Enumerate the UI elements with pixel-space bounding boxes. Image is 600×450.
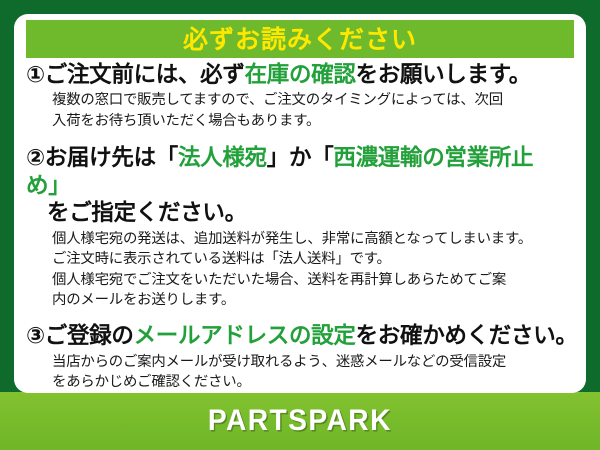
item-2-heading-pre: お届け先は — [45, 145, 156, 171]
item-1-heading-pre: ご注文前には、必ず — [45, 62, 245, 88]
item-1-heading-highlight: 在庫の確認 — [245, 62, 356, 88]
item-3-heading-highlight: メールアドレスの設定 — [134, 323, 356, 349]
item-2-body-line: 個人様宅宛の発送は、追加送料が発生し、非常に高額となってしまいます。 — [52, 229, 576, 249]
brand-wordmark: PARTSPARK — [208, 404, 392, 438]
item-3-heading-post: をお確かめください。 — [356, 323, 578, 349]
notice-item-3-heading: ③ご登録のメールアドレスの設定をお確かめください。 — [26, 323, 576, 350]
brand-footer: PARTSPARK — [0, 392, 600, 450]
item-2-body-line: ご注文時に表示されている送料は「法人送料」です。 — [52, 249, 576, 269]
item-3-body-line: 当店からのご案内メールが受け取れるよう、迷惑メールなどの受信設定 — [52, 352, 576, 372]
notice-item-1-heading: ①ご注文前には、必ず在庫の確認をお願いします。 — [26, 62, 576, 89]
item-1-heading-post: をお願いします。 — [356, 62, 531, 88]
notice-item-2-body: 個人様宅宛の発送は、追加送料が発生し、非常に高額となってしまいます。 ご注文時に… — [26, 229, 576, 311]
item-1-body-line: 入荷をお待ち頂いただく場合もあります。 — [52, 111, 576, 131]
notice-items-list: ①ご注文前には、必ず在庫の確認をお願いします。 複数の窓口で販売してますので、ご… — [14, 62, 586, 393]
notice-title-bar: 必ずお読みください — [26, 20, 574, 58]
page-title: 必ずお読みください — [183, 27, 417, 52]
notice-item-1: ①ご注文前には、必ず在庫の確認をお願いします。 複数の窓口で販売してますので、ご… — [26, 62, 576, 131]
notice-item-2-heading: ②お届け先は「法人様宛」か「西濃運輸の営業所止め」をご指定ください。 — [26, 145, 576, 227]
item-2-marker: ② — [26, 145, 45, 171]
item-1-body-line: 複数の窓口で販売してますので、ご注文のタイミングによっては、次回 — [52, 90, 576, 110]
item-3-body-line: をあらかじめご確認ください。 — [52, 372, 576, 392]
item-2-quote-open-1: 「 — [156, 145, 178, 171]
item-3-marker: ③ — [26, 323, 45, 349]
item-2-heading-highlight-1: 法人様宛 — [178, 145, 267, 171]
notice-card: PARTSPARK 必ずお読みください ①ご注文前には、必ず在庫の確認をお願いし… — [0, 0, 600, 450]
item-3-heading-pre: ご登録の — [45, 323, 134, 349]
notice-panel: 必ずお読みください ①ご注文前には、必ず在庫の確認をお願いします。 複数の窓口で… — [14, 14, 586, 393]
notice-item-2: ②お届け先は「法人様宛」か「西濃運輸の営業所止め」をご指定ください。 個人様宅宛… — [26, 145, 576, 310]
notice-item-1-body: 複数の窓口で販売してますので、ご注文のタイミングによっては、次回 入荷をお待ち頂… — [26, 90, 576, 131]
item-2-quote-close-1: 」 — [267, 145, 289, 171]
notice-item-3-body: 当店からのご案内メールが受け取れるよう、迷惑メールなどの受信設定 をあらかじめご… — [26, 352, 576, 393]
item-2-quote-close-2: 」 — [48, 173, 70, 199]
item-1-marker: ① — [26, 62, 45, 88]
item-2-heading-second-line: をご指定ください。 — [26, 200, 576, 227]
item-2-body-line: 個人様宅宛でご注文をいただいた場合、送料を再計算しあらためてご案 — [52, 270, 576, 290]
notice-item-3: ③ご登録のメールアドレスの設定をお確かめください。 当店からのご案内メールが受け… — [26, 323, 576, 392]
item-2-heading-middle: か — [289, 145, 311, 171]
item-2-quote-open-2: 「 — [311, 145, 333, 171]
item-2-body-line: 内のメールをお送りします。 — [52, 290, 576, 310]
